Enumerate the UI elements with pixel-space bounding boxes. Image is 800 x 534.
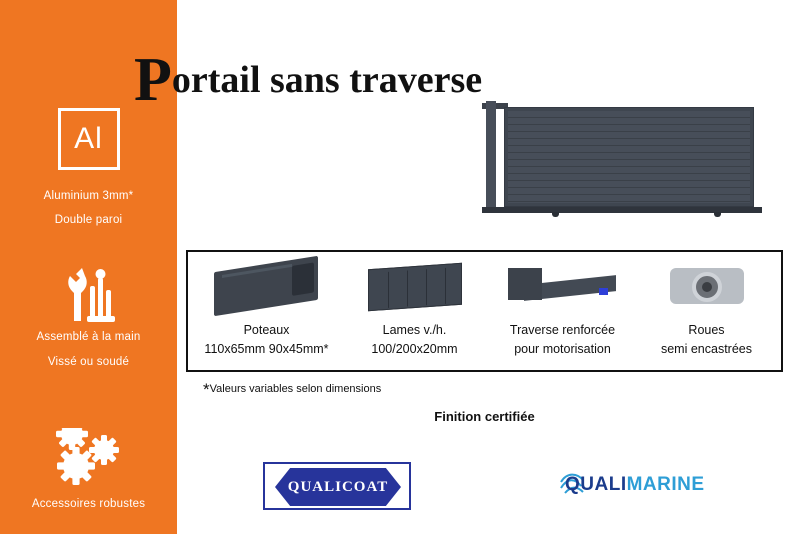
component-roues: Roues semi encastrées <box>632 252 781 374</box>
page-title: Portail sans traverse <box>134 49 482 111</box>
component-roues-sublabel: semi encastrées <box>632 341 781 357</box>
sidebar-block-accessoires <box>0 428 177 486</box>
qualicoat-logo: QUALICOAT <box>263 462 411 510</box>
roue-icon <box>632 258 781 316</box>
page-title-dropcap: P <box>134 46 172 114</box>
finition-certifiee-label: Finition certifiée <box>186 409 783 424</box>
photo-gate-slats <box>508 111 750 203</box>
photo-gate-wheel-right <box>714 212 721 217</box>
traverse-renforcee-icon <box>488 258 637 316</box>
component-traverse: Traverse renforcée pour motorisation <box>488 252 637 374</box>
lames-icon <box>340 258 489 316</box>
sidebar-caption-assemblage-1: Assemblé à la main <box>0 329 177 345</box>
qualicoat-label: QUALICOAT <box>288 479 388 496</box>
component-lames-dimensions: 100/200x20mm <box>340 341 489 357</box>
sidebar-block-aluminium: Al <box>0 108 177 170</box>
component-traverse-label: Traverse renforcée <box>488 322 637 338</box>
qualimarine-text: QUALIMARINE <box>565 474 705 496</box>
qualicoat-diamond: QUALICOAT <box>275 468 401 506</box>
component-poteaux: Poteaux 110x65mm 90x45mm* <box>192 252 341 374</box>
qualimarine-label-part2: MARINE <box>627 474 705 495</box>
footnote: *Valeurs variables selon dimensions <box>203 380 381 400</box>
gears-icon <box>46 428 132 486</box>
qualimarine-label-part1: QUALI <box>565 474 627 495</box>
sidebar-block-assemblage <box>0 266 177 324</box>
sidebar-caption-assemblage-2: Vissé ou soudé <box>0 354 177 370</box>
poteau-profile-icon <box>192 258 341 316</box>
component-roues-label: Roues <box>632 322 781 338</box>
qualimarine-logo: QUALIMARINE <box>565 470 705 502</box>
component-traverse-sublabel: pour motorisation <box>488 341 637 357</box>
component-poteaux-dimensions: 110x65mm 90x45mm* <box>192 341 341 357</box>
components-box: Poteaux 110x65mm 90x45mm* Lames v./h. 10… <box>186 250 783 372</box>
component-poteaux-label: Poteaux <box>192 322 341 338</box>
page-root: Al Aluminium 3mm* Double paroi Assemblé <box>0 0 800 534</box>
footnote-star: * <box>203 380 210 399</box>
portail-aluminium-photo <box>472 99 772 223</box>
tools-icon <box>54 266 124 324</box>
sidebar-caption-accessoires-1: Accessoires robustes <box>0 496 177 512</box>
page-title-rest: ortail sans traverse <box>172 59 482 101</box>
sidebar-caption-aluminium-2: Double paroi <box>0 212 177 228</box>
photo-gate-body <box>504 107 754 207</box>
component-lames-label: Lames v./h. <box>340 322 489 338</box>
aluminium-badge-label: Al <box>74 122 103 156</box>
footnote-text: Valeurs variables selon dimensions <box>210 383 382 395</box>
photo-gate-post <box>486 101 496 213</box>
sidebar-caption-aluminium-1: Aluminium 3mm* <box>0 188 177 204</box>
photo-gate-wheel-left <box>552 212 559 217</box>
aluminium-badge-icon: Al <box>58 108 120 170</box>
component-lames: Lames v./h. 100/200x20mm <box>340 252 489 374</box>
